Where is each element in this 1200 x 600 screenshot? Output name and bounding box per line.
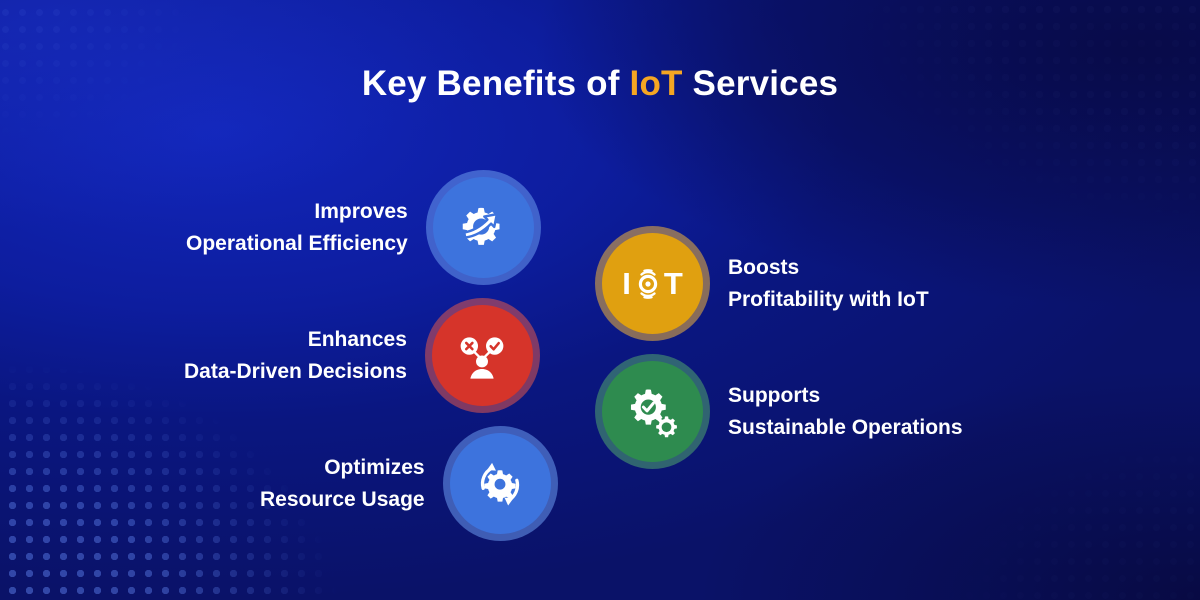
benefit-label-line1: Improves (186, 196, 408, 228)
benefit-label-line2: Profitability with IoT (728, 284, 929, 316)
benefit-boosts-profitability-with-iot[interactable]: I T Boosts Profitability with IoT (595, 226, 929, 341)
benefit-label-line2: Sustainable Operations (728, 412, 963, 444)
benefit-icon-circle[interactable] (443, 426, 558, 541)
gear-check-icon (623, 382, 683, 442)
gear-growth-arrow-icon (453, 198, 513, 258)
benefit-supports-sustainable-operations[interactable]: Supports Sustainable Operations (595, 354, 963, 469)
page-title-accent: IoT (630, 64, 683, 103)
benefit-label: Improves Operational Efficiency (186, 196, 408, 260)
page-title-after: Services (683, 64, 839, 103)
benefit-label-line1: Supports (728, 380, 963, 412)
benefit-icon-circle[interactable]: I T (595, 226, 710, 341)
benefit-label: Boosts Profitability with IoT (728, 252, 929, 316)
benefit-improves-operational-efficiency[interactable]: Improves Operational Efficiency (186, 170, 541, 285)
benefit-label-line1: Boosts (728, 252, 929, 284)
page-title: Key Benefits of IoT Services (0, 64, 1200, 104)
benefit-label: Enhances Data-Driven Decisions (184, 324, 407, 388)
person-decision-icon (453, 327, 511, 385)
page-title-before: Key Benefits of (362, 64, 630, 103)
benefit-label: Supports Sustainable Operations (728, 380, 963, 444)
benefit-label: Optimizes Resource Usage (260, 452, 425, 516)
benefit-label-line2: Resource Usage (260, 484, 425, 516)
benefit-enhances-data-driven-decisions[interactable]: Enhances Data-Driven Decisions (184, 298, 540, 413)
gear-recycle-icon (469, 453, 531, 515)
benefit-icon-circle[interactable] (425, 298, 540, 413)
benefit-label-line2: Data-Driven Decisions (184, 356, 407, 388)
benefit-icon-circle[interactable] (426, 170, 541, 285)
iot-signal-icon: I T (622, 264, 683, 304)
benefit-label-line1: Optimizes (260, 452, 425, 484)
benefit-icon-circle[interactable] (595, 354, 710, 469)
benefit-label-line2: Operational Efficiency (186, 228, 408, 260)
benefit-optimizes-resource-usage[interactable]: Optimizes Resource Usage (260, 426, 558, 541)
benefit-label-line1: Enhances (184, 324, 407, 356)
infographic-canvas: Key Benefits of IoT Services Improves Op… (0, 0, 1200, 600)
